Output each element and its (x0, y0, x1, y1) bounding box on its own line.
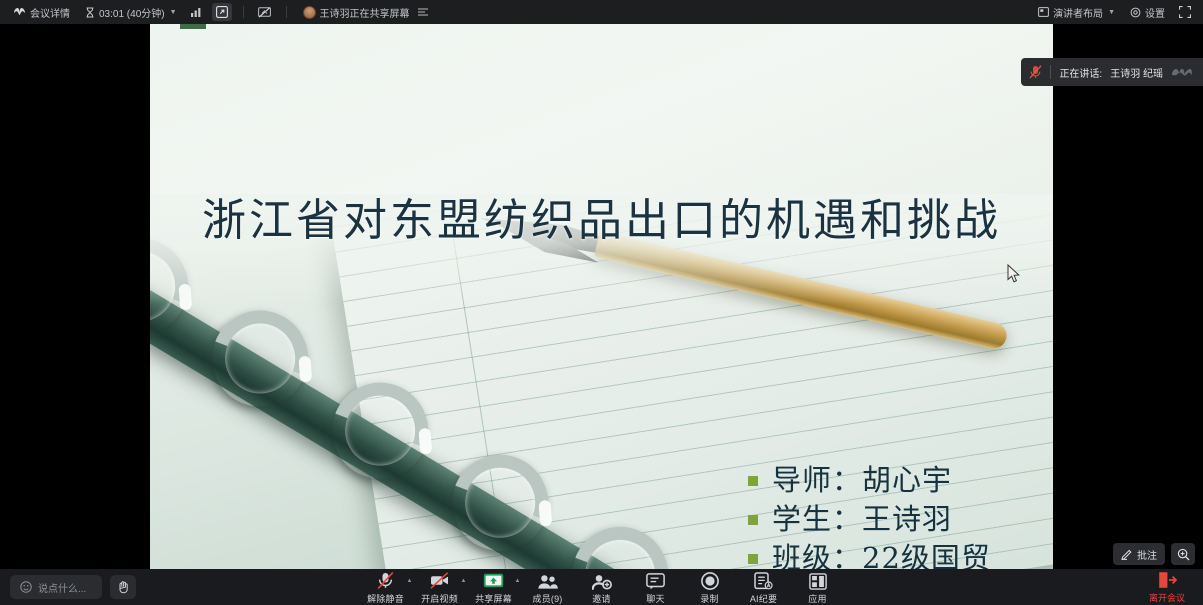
raise-hand-button[interactable] (110, 575, 136, 599)
participants-button[interactable]: 成员(9) (522, 570, 574, 605)
participants-icon (537, 571, 559, 590)
divider (243, 6, 244, 18)
tool-label: 解除静音 (367, 592, 404, 605)
divider (286, 6, 287, 18)
list-item: 学生：王诗羽 (748, 500, 1053, 539)
record-button[interactable]: 录制 (684, 570, 736, 605)
unmute-button[interactable]: 解除静音 ▲ (360, 570, 412, 605)
list-icon[interactable] (418, 8, 428, 16)
meeting-window: 会议详情 03:01 (40分钟) ▼ (0, 0, 1203, 605)
sharing-notice: 王诗羽正在共享屏幕 (298, 3, 433, 22)
leave-meeting-button[interactable]: 离开会议 (1141, 571, 1193, 604)
slide-top-marker (180, 24, 206, 29)
meeting-details-label: 会议详情 (30, 5, 70, 20)
record-circle-icon (701, 571, 719, 590)
layout-icon (1038, 7, 1049, 17)
leave-meeting-icon (1158, 571, 1177, 589)
bullet-square-icon (748, 554, 758, 564)
hourglass-icon (85, 7, 95, 18)
share-screen-button[interactable]: 共享屏幕 ▲ (468, 570, 520, 605)
presentation-slide: 浙江省对东盟纺织品出口的机遇和挑战 导师：胡心宇 学生：王诗羽 班级：22级国贸… (150, 24, 1053, 569)
list-item-label: 班级：22级国贸 (772, 539, 991, 569)
pencil-annotate-icon (1121, 548, 1133, 560)
sharing-notice-label: 王诗羽正在共享屏幕 (320, 5, 410, 20)
magnifier-icon (1177, 548, 1190, 561)
annotate-button[interactable]: 批注 (1113, 543, 1165, 565)
invite-user-icon (592, 571, 612, 590)
tool-label: 应用 (808, 592, 826, 605)
tool-label: 开启视频 (421, 592, 458, 605)
floating-tools: 批注 (1113, 543, 1195, 565)
chevron-down-icon: ▼ (170, 9, 177, 16)
emoji-smile-icon (20, 581, 32, 593)
zoom-logo-icon (13, 7, 26, 17)
mouse-cursor (1007, 264, 1021, 283)
bottom-left-group: 说点什么... (10, 575, 136, 599)
zoom-button[interactable] (1171, 543, 1195, 565)
tool-label: 聊天 (646, 592, 664, 605)
tool-label: 邀请 (592, 592, 610, 605)
tool-label: AI纪要 (750, 592, 777, 605)
raise-hand-icon (117, 580, 130, 594)
tool-label: 录制 (700, 592, 718, 605)
chevron-down-icon: ▼ (1108, 9, 1115, 16)
microphone-muted-icon (376, 571, 395, 590)
apps-button[interactable]: 应用 (792, 570, 844, 605)
start-video-button[interactable]: 开启视频 ▲ (414, 570, 466, 605)
leave-meeting-label: 离开会议 (1149, 591, 1185, 604)
top-toolbar: 会议详情 03:01 (40分钟) ▼ (0, 0, 1203, 24)
meeting-timer[interactable]: 03:01 (40分钟) ▼ (80, 3, 182, 22)
list-item-label: 导师：胡心宇 (772, 461, 952, 500)
bottom-right-group: 离开会议 (1141, 571, 1193, 604)
tool-label: 成员(9) (533, 592, 563, 605)
say-something-placeholder: 说点什么... (38, 580, 86, 595)
zoom-wave-icon (1171, 67, 1193, 77)
bottom-tool-group: 解除静音 ▲ 开启视频 ▲ (360, 570, 844, 605)
list-item: 导师：胡心宇 (748, 461, 1053, 500)
top-right-group: 演讲者布局 ▼ 设置 (1033, 3, 1195, 22)
signal-bars-icon[interactable] (187, 3, 207, 21)
chat-bubble-icon (646, 571, 665, 590)
popout-window-button[interactable] (212, 3, 232, 21)
list-item-label: 学生：王诗羽 (772, 500, 952, 539)
fullscreen-button[interactable] (1175, 3, 1195, 21)
meeting-info-group[interactable]: 会议详情 03:01 (40分钟) ▼ (8, 3, 433, 22)
bottom-toolbar: 说点什么... (0, 569, 1203, 605)
bullet-square-icon (748, 515, 758, 525)
settings-button[interactable]: 设置 (1125, 3, 1170, 22)
settings-label: 设置 (1145, 5, 1165, 20)
gear-icon (1130, 7, 1141, 18)
slide-bullet-list: 导师：胡心宇 学生：王诗羽 班级：22级国贸 (748, 461, 1053, 569)
divider (1050, 65, 1051, 79)
bullet-square-icon (748, 476, 758, 486)
invite-button[interactable]: 邀请 (576, 570, 628, 605)
ai-notes-button[interactable]: AI纪要 (738, 570, 790, 605)
tool-label: 共享屏幕 (475, 592, 512, 605)
layout-label: 演讲者布局 (1053, 5, 1103, 20)
ai-notes-icon (754, 571, 773, 590)
list-item: 班级：22级国贸 (748, 539, 1053, 569)
chat-button[interactable]: 聊天 (630, 570, 682, 605)
shared-screen-area[interactable]: 浙江省对东盟纺织品出口的机遇和挑战 导师：胡心宇 学生：王诗羽 班级：22级国贸… (0, 24, 1203, 569)
apps-grid-icon (809, 571, 827, 590)
user-avatar-icon (303, 6, 316, 19)
meeting-details-button[interactable]: 会议详情 (8, 3, 75, 22)
chevron-up-icon[interactable]: ▲ (515, 578, 521, 584)
chevron-up-icon[interactable]: ▲ (407, 578, 413, 584)
slide-title: 浙江省对东盟纺织品出口的机遇和挑战 (150, 184, 1053, 248)
screen-share-off-icon[interactable] (255, 3, 275, 21)
chevron-up-icon[interactable]: ▲ (461, 578, 467, 584)
active-speaker-indicator: 正在讲话: 王诗羽 纪瑶 (1021, 58, 1203, 86)
microphone-muted-red-icon (1029, 65, 1042, 79)
active-speaker-prefix: 正在讲话: (1059, 65, 1102, 80)
active-speaker-names: 王诗羽 纪瑶 (1110, 65, 1163, 80)
annotate-label: 批注 (1137, 547, 1157, 562)
layout-button[interactable]: 演讲者布局 ▼ (1033, 3, 1120, 22)
video-camera-off-icon (429, 571, 450, 590)
share-screen-icon (483, 571, 504, 590)
say-something-input[interactable]: 说点什么... (10, 575, 102, 599)
meeting-timer-label: 03:01 (40分钟) (99, 5, 165, 20)
